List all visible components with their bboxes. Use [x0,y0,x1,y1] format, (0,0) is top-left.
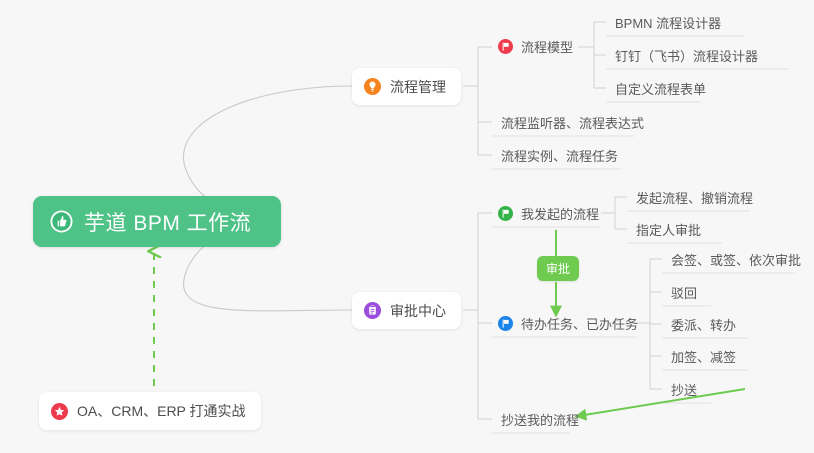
node-start-cancel-process[interactable]: 发起流程、撤销流程 [627,185,762,212]
node-multi-sign[interactable]: 会签、或签、依次审批 [662,247,810,274]
node-label: 加签、减签 [671,347,736,366]
node-label: 自定义流程表单 [615,79,706,98]
node-label: 钉钉（飞书）流程设计器 [615,46,758,65]
annotation-tag-approval[interactable]: 审批 [537,256,579,281]
node-label: 我发起的流程 [521,204,599,223]
node-label: 指定人审批 [636,220,701,239]
node-dingtalk-feishu-designer[interactable]: 钉钉（飞书）流程设计器 [606,43,767,70]
clipboard-icon [364,302,381,319]
node-label: 抄送 [671,380,697,399]
node-assignee-approval[interactable]: 指定人审批 [627,217,710,244]
node-label: 流程监听器、流程表达式 [501,113,644,132]
node-cc[interactable]: 抄送 [662,377,706,404]
node-custom-process-form[interactable]: 自定义流程表单 [606,76,715,103]
node-process-model[interactable]: 流程模型 [492,34,582,61]
node-label: 委派、转办 [671,315,736,334]
footnote-label: OA、CRM、ERP 打通实战 [77,401,246,421]
annotation-tag-label: 审批 [546,262,570,276]
node-label: 待办任务、已办任务 [521,314,638,333]
node-label: 流程实例、流程任务 [501,146,618,165]
branch-node-approval-center[interactable]: 审批中心 [352,292,461,329]
node-add-remove-sign[interactable]: 加签、减签 [662,344,745,371]
node-label: 驳回 [671,283,697,302]
root-label: 芋道 BPM 工作流 [84,207,251,237]
flag-icon [498,39,513,54]
mindmap-canvas: 芋道 BPM 工作流 流程管理 审批中心 [0,0,814,453]
flag-icon [498,316,513,331]
node-bpmn-designer[interactable]: BPMN 流程设计器 [606,10,730,37]
node-label: BPMN 流程设计器 [615,13,721,32]
node-label: 流程模型 [521,37,573,56]
node-label: 会签、或签、依次审批 [671,250,801,269]
branch-label: 流程管理 [390,77,446,97]
node-label: 抄送我的流程 [501,410,579,429]
star-icon [51,403,68,420]
lightbulb-icon [364,78,381,95]
node-reject[interactable]: 驳回 [662,280,706,307]
branch-label: 审批中心 [390,301,446,321]
node-instance-task[interactable]: 流程实例、流程任务 [492,143,627,170]
root-node[interactable]: 芋道 BPM 工作流 [33,196,281,247]
footnote-node-integration[interactable]: OA、CRM、ERP 打通实战 [39,392,261,430]
thumbs-up-icon [50,210,73,233]
node-my-initiated-process[interactable]: 我发起的流程 [492,201,608,228]
flag-icon [498,206,513,221]
node-delegate-transfer[interactable]: 委派、转办 [662,312,745,339]
node-todo-done-task[interactable]: 待办任务、已办任务 [492,311,647,338]
node-label: 发起流程、撤销流程 [636,188,753,207]
node-listener-expression[interactable]: 流程监听器、流程表达式 [492,110,653,137]
branch-node-process-management[interactable]: 流程管理 [352,68,461,105]
node-cc-my-process[interactable]: 抄送我的流程 [492,407,588,434]
